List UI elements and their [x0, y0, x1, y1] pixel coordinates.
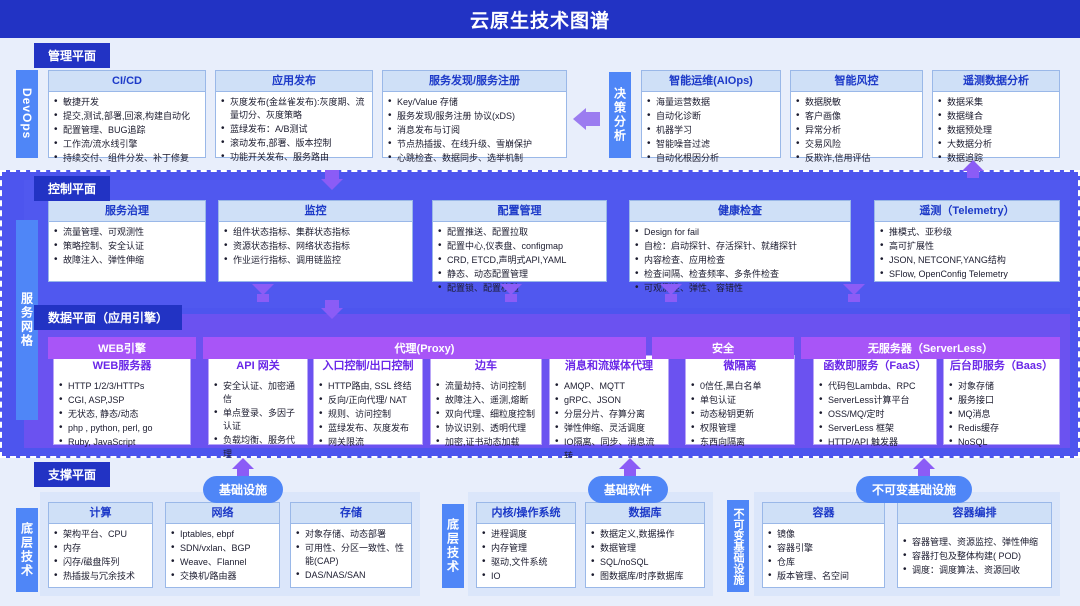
list-item: OSS/MQ/定时 — [819, 408, 931, 421]
card-title: 容器编排 — [898, 503, 1051, 524]
list-item: 权限管理 — [691, 422, 789, 435]
card-storage: 存储 对象存储、动态部署 可用性、分区一致性、性能(CAP) DAS/NAS/S… — [290, 502, 412, 588]
list-item: 策略控制、安全认证 — [54, 240, 200, 253]
list-item: NoSQL — [949, 436, 1054, 449]
card-compute: 计算 架构平台、CPU 内存 闪存/磁盘阵列 热插拔与冗余技术 — [48, 502, 153, 588]
plane-tag-control: 控制平面 — [34, 176, 110, 201]
card-title: CI/CD — [49, 71, 205, 92]
side-label-decision: 决策分析 — [609, 72, 631, 158]
list-item: 双向代理、细粒度控制 — [436, 408, 536, 421]
list-item: 调度：调度算法、资源回收 — [903, 564, 1046, 577]
list-item: php , python, perl, go — [59, 422, 185, 435]
arrow-health-shaft-right — [848, 294, 860, 302]
list-item: 灰度发布(金丝雀发布):灰度期、流量切分、灰度策略 — [221, 96, 367, 122]
list-item: 配置管理、BUG追踪 — [54, 124, 200, 137]
list-item: MQ消息 — [949, 408, 1054, 421]
card-cicd: CI/CD 敏捷开发 提交,测试,部署,回滚,构建自动化 配置管理、BUG追踪 … — [48, 70, 206, 158]
card-list: HTTP 1/2/3/HTTPs CGI, ASP,JSP 无状态, 静态/动态… — [59, 380, 185, 449]
list-item: 单包认证 — [691, 394, 789, 407]
plane-tag-support: 支撑平面 — [34, 462, 110, 487]
list-item: 静态、动态配置管理 — [438, 268, 601, 281]
card-title: 智能运维(AIOps) — [642, 71, 780, 92]
card-list: 0信任,黑白名单 单包认证 动态秘钥更新 权限管理 东西向隔离 — [691, 380, 789, 449]
pill-infrastructure: 基础设施 — [203, 476, 283, 503]
list-item: 流量管理、可观测性 — [54, 226, 200, 239]
card-list: 镜像 容器引擎 仓库 版本管理、名空间 — [768, 528, 879, 583]
list-item: Ruby, JavaScript — [59, 436, 185, 449]
list-item: 架构平台、CPU — [54, 528, 147, 541]
list-item: 规则、访问控制 — [319, 408, 417, 421]
list-item: 持续交付、组件分发、补丁修复 — [54, 152, 200, 165]
list-item: AMQP、MQTT — [555, 380, 663, 393]
list-item: 负载均衡、服务代理 — [214, 434, 302, 460]
list-item: 数据采集 — [938, 96, 1054, 109]
list-item: 工作流/流水线引擎 — [54, 138, 200, 151]
card-title: API 网关 — [209, 356, 307, 376]
list-item: 服务发现/服务注册 协议(xDS) — [388, 110, 561, 123]
pill-immutable-infra: 不可变基础设施 — [856, 476, 972, 503]
list-item: 容器引擎 — [768, 542, 879, 555]
list-item: 数据定义,数据操作 — [591, 528, 699, 541]
list-item: ServerLess 框架 — [819, 422, 931, 435]
list-item: 数据管理 — [591, 542, 699, 555]
card-list: 数据脱敏 客户画像 异常分析 交易风险 反欺诈,信用评估 — [796, 96, 917, 165]
list-item: 容器打包及整体构建( POD) — [903, 550, 1046, 563]
list-item: 镜像 — [768, 528, 879, 541]
list-item: gRPC、JSON — [555, 394, 663, 407]
list-item: 推模式、亚秒级 — [880, 226, 1054, 239]
list-item: JSON, NETCONF,YANG结构 — [880, 254, 1054, 267]
list-item: 内存管理 — [482, 542, 570, 555]
list-item: HTTP路由, SSL 终结 — [319, 380, 417, 393]
list-item: 对象存储、动态部署 — [296, 528, 406, 541]
list-item: 数据缝合 — [938, 110, 1054, 123]
list-item: 反欺诈,信用评估 — [796, 152, 917, 165]
list-item: 滚动发布,部署、版本控制 — [221, 137, 367, 150]
list-item: Key/Value 存储 — [388, 96, 561, 109]
card-database: 数据库 数据定义,数据操作 数据管理 SQL/noSQL 图数据库/时序数据库 — [585, 502, 705, 588]
card-list: 架构平台、CPU 内存 闪存/磁盘阵列 热插拔与冗余技术 — [54, 528, 147, 583]
list-item: 分层分片、存算分离 — [555, 408, 663, 421]
card-title: 微隔离 — [686, 356, 794, 376]
card-network: 网络 Iptables, ebpf SDN/vxlan、BGP Weave、Fl… — [165, 502, 280, 588]
list-item: 异常分析 — [796, 124, 917, 137]
arrow-head-control-to-analysis — [962, 160, 984, 171]
arrow-head-manage-to-control — [321, 179, 343, 190]
card-baas: 后台即服务（Baas） 对象存储 服务接口 MQ消息 Redis缓存 NoSQL — [943, 355, 1060, 445]
list-item: Iptables, ebpf — [171, 528, 274, 541]
list-item: 闪存/磁盘阵列 — [54, 556, 147, 569]
list-item: 检查间隔、检查频率、多条件检查 — [635, 268, 845, 281]
list-item: 作业运行指标、调用链监控 — [224, 254, 407, 267]
side-label-devops: DevOps — [16, 70, 38, 158]
list-item: 自动化根因分析 — [647, 152, 775, 165]
list-item: 心跳检查、数据同步、选举机制 — [388, 152, 561, 165]
list-item: 内容检查、应用检查 — [635, 254, 845, 267]
card-telemetry-analysis: 遥测数据分析 数据采集 数据缝合 数据预处理 大数据分析 数据追踪 — [932, 70, 1060, 158]
list-item: 驱动,文件系统 — [482, 556, 570, 569]
card-title: 网络 — [166, 503, 279, 524]
list-item: 自检：启动探针、存活探针、就绪探针 — [635, 240, 845, 253]
list-item: 数据脱敏 — [796, 96, 917, 109]
list-item: 容器管理、资源监控、弹性伸缩 — [903, 536, 1046, 549]
list-item: 热插拔与冗余技术 — [54, 570, 147, 583]
card-service-governance: 服务治理 流量管理、可观测性 策略控制、安全认证 故障注入、弹性伸缩 — [48, 200, 206, 282]
list-item: SFlow, OpenConfig Telemetry — [880, 268, 1054, 281]
list-item: 资源状态指标、网络状态指标 — [224, 240, 407, 253]
card-faas: 函数即服务（FaaS） 代码包Lambda、RPC ServerLess计算平台… — [813, 355, 937, 445]
card-telemetry: 遥测（Telemetry） 推模式、亚秒级 高可扩展性 JSON, NETCON… — [874, 200, 1060, 282]
card-kernel-os: 内核/操作系统 进程调度 内存管理 驱动,文件系统 IO — [476, 502, 576, 588]
list-item: 海量运营数据 — [647, 96, 775, 109]
card-title: 后台即服务（Baas） — [944, 356, 1059, 376]
card-title: 遥测数据分析 — [933, 71, 1059, 92]
card-list: 流量劫持、访问控制 故障注入、遥测,熔断 双向代理、细粒度控制 协议识别、透明代… — [436, 380, 536, 449]
card-title: 服务发现/服务注册 — [383, 71, 566, 92]
pill-base-software: 基础软件 — [588, 476, 668, 503]
group-web-engine: WEB引擎 — [48, 337, 196, 359]
arrow-basesw-shaft — [624, 468, 636, 476]
card-list: 海量运营数据 自动化诊断 机器学习 智能噪音过滤 自动化根因分析 — [647, 96, 775, 165]
card-health-check: 健康检查 Design for fail 自检：启动探针、存活探针、就绪探针 内… — [629, 200, 851, 282]
card-title: 函数即服务（FaaS） — [814, 356, 936, 376]
card-container-orchestration: 容器编排 容器管理、资源监控、弹性伸缩 容器打包及整体构建( POD) 调度：调… — [897, 502, 1052, 588]
list-item: DAS/NAS/SAN — [296, 569, 406, 582]
card-title: 配置管理 — [433, 201, 606, 222]
list-item: 大数据分析 — [938, 138, 1054, 151]
card-title: 遥测（Telemetry） — [875, 201, 1059, 222]
card-ingress-egress: 入口控制/出口控制 HTTP路由, SSL 终结 反向/正向代理/ NAT 规则… — [313, 355, 423, 445]
list-item: 无状态, 静态/动态 — [59, 408, 185, 421]
side-label-base-tech: 底层技术 — [16, 508, 38, 592]
group-serverless: 无服务器（ServerLess） — [801, 337, 1060, 359]
card-list: Iptables, ebpf SDN/vxlan、BGP Weave、Flann… — [171, 528, 274, 583]
card-list: 数据采集 数据缝合 数据预处理 大数据分析 数据追踪 — [938, 96, 1054, 165]
card-title: 监控 — [219, 201, 412, 222]
group-proxy: 代理(Proxy) — [203, 337, 646, 359]
card-web-server: WEB服务器 HTTP 1/2/3/HTTPs CGI, ASP,JSP 无状态… — [53, 355, 191, 445]
list-item: Redis缓存 — [949, 422, 1054, 435]
list-item: 交易风险 — [796, 138, 917, 151]
list-item: CRD, ETCD,声明式API,YAML — [438, 254, 601, 267]
card-title: 服务治理 — [49, 201, 205, 222]
list-item: CGI, ASP,JSP — [59, 394, 185, 407]
list-item: 故障注入、弹性伸缩 — [54, 254, 200, 267]
card-list: 敏捷开发 提交,测试,部署,回滚,构建自动化 配置管理、BUG追踪 工作流/流水… — [54, 96, 200, 165]
list-item: 数据追踪 — [938, 152, 1054, 165]
card-message-stream-proxy: 消息和流媒体代理 AMQP、MQTT gRPC、JSON 分层分片、存算分离 弹… — [549, 355, 669, 445]
card-list: 对象存储、动态部署 可用性、分区一致性、性能(CAP) DAS/NAS/SAN — [296, 528, 406, 582]
card-risk-control: 智能风控 数据脱敏 客户画像 异常分析 交易风险 反欺诈,信用评估 — [790, 70, 923, 158]
card-title: 入口控制/出口控制 — [314, 356, 422, 376]
card-title: 数据库 — [586, 503, 704, 524]
list-item: Weave、Flannel — [171, 556, 274, 569]
arrow-monitoring-shaft — [257, 294, 269, 302]
card-api-gateway: API 网关 安全认证、加密通信 单点登录、多因子认证 负载均衡、服务代理 协议… — [208, 355, 308, 445]
list-item: ServerLess计算平台 — [819, 394, 931, 407]
arrow-health-shaft-left — [665, 294, 677, 302]
card-title: 健康检查 — [630, 201, 850, 222]
list-item: 版本管理、名空间 — [768, 570, 879, 583]
list-item: 图数据库/时序数据库 — [591, 570, 699, 583]
arrow-data-head — [321, 308, 343, 319]
list-item: 单点登录、多因子认证 — [214, 407, 302, 433]
list-item: 仓库 — [768, 556, 879, 569]
list-item: 弹性伸缩、灵活调度 — [555, 422, 663, 435]
card-sidecar: 边车 流量劫持、访问控制 故障注入、遥测,熔断 双向代理、细粒度控制 协议识别、… — [430, 355, 542, 445]
list-item: 敏捷开发 — [54, 96, 200, 109]
list-item: HTTP/API 触发器 — [819, 436, 931, 449]
card-monitoring: 监控 组件状态指标、集群状态指标 资源状态指标、网络状态指标 作业运行指标、调用… — [218, 200, 413, 282]
group-security: 安全 — [652, 337, 794, 359]
decision-arrow-shaft — [586, 112, 600, 126]
card-micro-isolation: 微隔离 0信任,黑白名单 单包认证 动态秘钥更新 权限管理 东西向隔离 — [685, 355, 795, 445]
list-item: 服务接口 — [949, 394, 1054, 407]
side-label-base-tech-2: 底层技术 — [442, 504, 464, 588]
card-title: 应用发布 — [216, 71, 372, 92]
list-item: 加密,证书动态加载 — [436, 436, 536, 449]
list-item: 安全认证、加密通信 — [214, 380, 302, 406]
list-item: SQL/noSQL — [591, 556, 699, 569]
list-item: 进程调度 — [482, 528, 570, 541]
list-item: 代码包Lambda、RPC — [819, 380, 931, 393]
list-item: 高可扩展性 — [880, 240, 1054, 253]
decision-arrow-head — [573, 108, 586, 130]
card-list: Key/Value 存储 服务发现/服务注册 协议(xDS) 消息发布与订阅 节… — [388, 96, 561, 165]
arrow-basesw-head — [619, 458, 641, 469]
arrow-immutable-head — [913, 458, 935, 469]
plane-tag-data: 数据平面（应用引擎） — [34, 305, 182, 330]
card-list: 对象存储 服务接口 MQ消息 Redis缓存 NoSQL — [949, 380, 1054, 449]
cloud-native-tech-map: 云原生技术图谱 管理平面 DevOps CI/CD 敏捷开发 提交,测试,部署,… — [0, 0, 1080, 606]
card-list: 数据定义,数据操作 数据管理 SQL/noSQL 图数据库/时序数据库 — [591, 528, 699, 583]
card-list: 代码包Lambda、RPC ServerLess计算平台 OSS/MQ/定时 S… — [819, 380, 931, 449]
list-item: 故障注入、遥测,熔断 — [436, 394, 536, 407]
list-item: 东西向隔离 — [691, 436, 789, 449]
card-list: HTTP路由, SSL 终结 反向/正向代理/ NAT 规则、访问控制 蓝绿发布… — [319, 380, 417, 449]
list-item: 节点热插拔、在线升级、雪崩保护 — [388, 138, 561, 151]
card-title: 存储 — [291, 503, 411, 524]
arrow-infra-head — [232, 458, 254, 469]
card-title: WEB服务器 — [54, 356, 190, 376]
list-item: 蓝绿发布、灰度发布 — [319, 422, 417, 435]
arrow-config-shaft — [505, 294, 517, 302]
list-item: 智能噪音过滤 — [647, 138, 775, 151]
list-item: 流量劫持、访问控制 — [436, 380, 536, 393]
list-item: HTTP 1/2/3/HTTPs — [59, 380, 185, 393]
list-item: 组件状态指标、集群状态指标 — [224, 226, 407, 239]
list-item: 客户画像 — [796, 110, 917, 123]
list-item: 0信任,黑白名单 — [691, 380, 789, 393]
list-item: 提交,测试,部署,回滚,构建自动化 — [54, 110, 200, 123]
card-title: 内核/操作系统 — [477, 503, 575, 524]
arrow-infra-shaft — [237, 468, 249, 476]
list-item: 反向/正向代理/ NAT — [319, 394, 417, 407]
card-title: 容器 — [763, 503, 884, 524]
list-item: IO — [482, 570, 570, 583]
list-item: 网关限流 — [319, 436, 417, 449]
card-list: 容器管理、资源监控、弹性伸缩 容器打包及整体构建( POD) 调度：调度算法、资… — [903, 536, 1046, 577]
list-item: 可用性、分区一致性、性能(CAP) — [296, 542, 406, 568]
list-item: 协议识别、透明代理 — [436, 422, 536, 435]
list-item: 蓝绿发布：A/B测试 — [221, 123, 367, 136]
list-item: SDN/vxlan、BGP — [171, 542, 274, 555]
page-title: 云原生技术图谱 — [0, 0, 1080, 38]
list-item: 配置中心,仪表盘、configmap — [438, 240, 601, 253]
card-list: 进程调度 内存管理 驱动,文件系统 IO — [482, 528, 570, 583]
list-item: 功能开关发布、服务路由 — [221, 151, 367, 164]
card-service-discovery: 服务发现/服务注册 Key/Value 存储 服务发现/服务注册 协议(xDS)… — [382, 70, 567, 158]
side-label-immutable-infra: 不可变基础设施 — [727, 500, 749, 592]
list-item: 交换机/路由器 — [171, 570, 274, 583]
card-app-release: 应用发布 灰度发布(金丝雀发布):灰度期、流量切分、灰度策略 蓝绿发布：A/B测… — [215, 70, 373, 158]
card-list: 组件状态指标、集群状态指标 资源状态指标、网络状态指标 作业运行指标、调用链监控 — [224, 226, 407, 267]
card-list: 推模式、亚秒级 高可扩展性 JSON, NETCONF,YANG结构 SFlow… — [880, 226, 1054, 281]
list-item: 内存 — [54, 542, 147, 555]
plane-tag-manage: 管理平面 — [34, 43, 110, 68]
card-list: 灰度发布(金丝雀发布):灰度期、流量切分、灰度策略 蓝绿发布：A/B测试 滚动发… — [221, 96, 367, 164]
card-title: 智能风控 — [791, 71, 922, 92]
card-title: 计算 — [49, 503, 152, 524]
list-item: 对象存储 — [949, 380, 1054, 393]
card-title: 边车 — [431, 356, 541, 376]
list-item: 自动化诊断 — [647, 110, 775, 123]
list-item: 动态秘钥更新 — [691, 408, 789, 421]
card-aiops: 智能运维(AIOps) 海量运营数据 自动化诊断 机器学习 智能噪音过滤 自动化… — [641, 70, 781, 158]
arrow-immutable-shaft — [918, 468, 930, 476]
list-item: Design for fail — [635, 226, 845, 239]
list-item: 机器学习 — [647, 124, 775, 137]
card-title: 消息和流媒体代理 — [550, 356, 668, 376]
card-list: 流量管理、可观测性 策略控制、安全认证 故障注入、弹性伸缩 — [54, 226, 200, 267]
card-config-management: 配置管理 配置推送、配置拉取 配置中心,仪表盘、configmap CRD, E… — [432, 200, 607, 282]
list-item: 配置推送、配置拉取 — [438, 226, 601, 239]
card-container: 容器 镜像 容器引擎 仓库 版本管理、名空间 — [762, 502, 885, 588]
list-item: 数据预处理 — [938, 124, 1054, 137]
card-list: AMQP、MQTT gRPC、JSON 分层分片、存算分离 弹性伸缩、灵活调度 … — [555, 380, 663, 462]
list-item: 消息发布与订阅 — [388, 124, 561, 137]
